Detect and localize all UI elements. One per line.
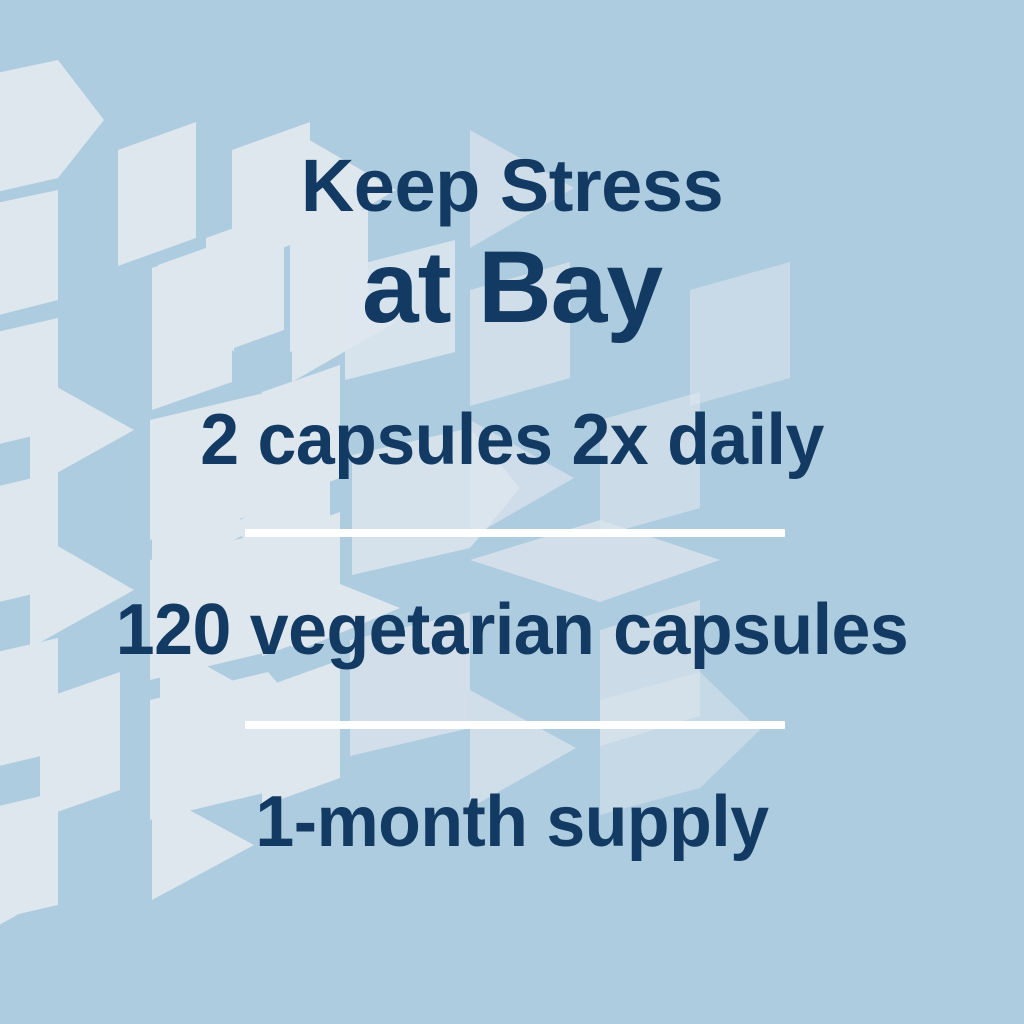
- product-info-card: Keep Stress at Bay 2 capsules 2x daily 1…: [0, 0, 1024, 1024]
- headline-line-2: at Bay: [0, 228, 1024, 346]
- divider-1: [245, 529, 785, 537]
- headline-line-1: Keep Stress: [0, 143, 1024, 229]
- divider-2: [245, 721, 785, 729]
- spec-supply: 1-month supply: [15, 780, 1008, 864]
- spec-dosage: 2 capsules 2x daily: [15, 398, 1008, 482]
- card-content: Keep Stress at Bay 2 capsules 2x daily 1…: [0, 0, 1024, 1024]
- spec-count: 120 vegetarian capsules: [15, 588, 1008, 672]
